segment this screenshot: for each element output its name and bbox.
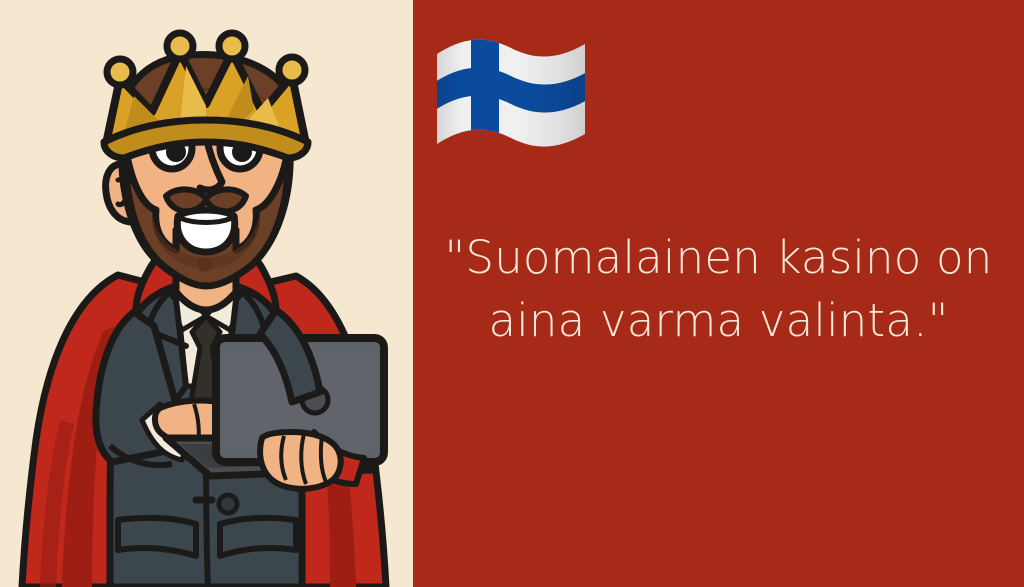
promo-banner: "Suomalainen kasino on aina varma valint… (0, 0, 1024, 587)
quote-text: "Suomalainen kasino on aina varma valint… (413, 226, 1024, 352)
king-with-laptop-illustration (0, 0, 413, 587)
finland-flag-icon (435, 38, 587, 152)
